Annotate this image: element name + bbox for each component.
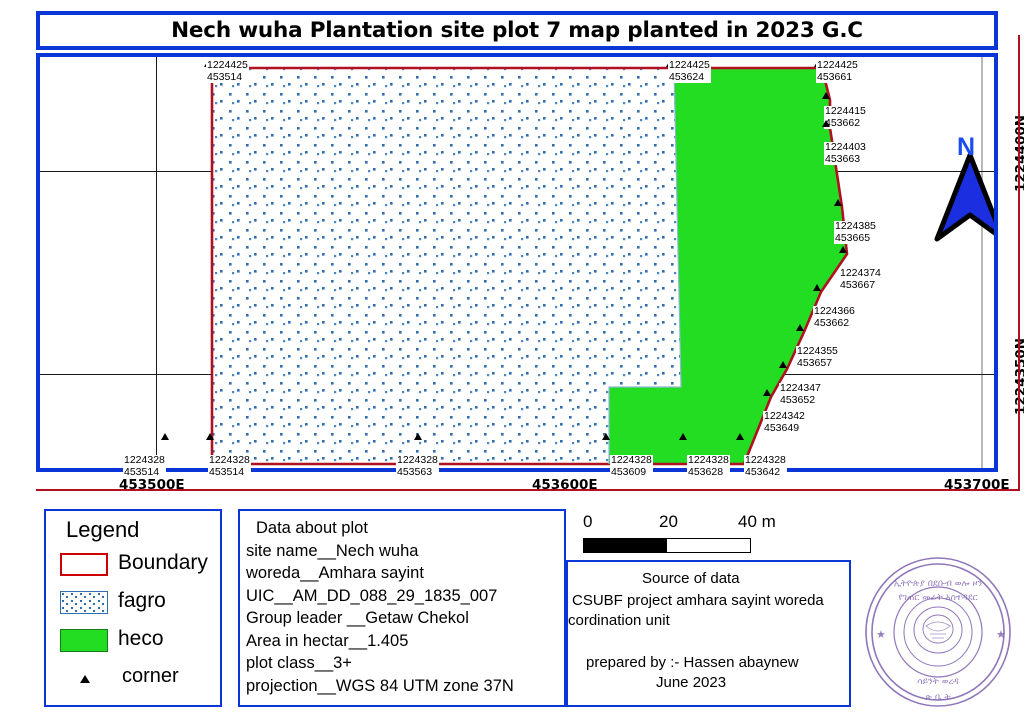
corner-marker-icon (161, 433, 169, 440)
corner-northing: 1224415 (825, 106, 866, 118)
corner-northing: 1224342 (764, 411, 805, 423)
right-rule (1018, 35, 1020, 491)
corner-northing: 1224425 (669, 60, 710, 72)
corner-northing: 1224403 (825, 142, 866, 154)
corner-coordinate-label: 1224328453628 (687, 455, 730, 478)
svg-text:ኢትዮጵያ በደቡብ ወሎ ዞን: ኢትዮጵያ በደቡብ ወሎ ዞን (894, 579, 982, 589)
scale-tick-label: 0 (583, 512, 592, 532)
corner-coordinate-label: 1224328453563 (396, 455, 439, 478)
corner-northing: 1224328 (397, 455, 438, 467)
corner-northing: 1224328 (745, 455, 786, 467)
corner-marker-icon (779, 361, 787, 368)
plot-data-line: UIC__AM_DD_088_29_1835_007 (246, 585, 564, 608)
source-heading: Source of data (642, 570, 740, 587)
corner-coordinate-label: 1224328453514 (123, 455, 166, 478)
page-title: Nech wuha Plantation site plot 7 map pla… (171, 18, 863, 43)
corner-coordinate-label: 1224425453624 (668, 60, 711, 83)
scale-bar-group: 0 20 40 m (583, 512, 833, 554)
corner-coordinate-label: 1224415453662 (824, 106, 867, 129)
triangle-marker-icon (80, 675, 90, 683)
plot-data-line: woreda__Amhara sayint (246, 562, 564, 585)
source-panel: Source of data CSUBF project amhara sayi… (566, 560, 851, 707)
map-page: Nech wuha Plantation site plot 7 map pla… (0, 0, 1024, 724)
corner-easting: 453514 (207, 72, 248, 84)
source-line-2: cordination unit (568, 612, 670, 629)
corner-coordinate-label: 1224385453665 (834, 221, 877, 244)
corner-marker-icon (822, 120, 830, 127)
corner-marker-icon (839, 246, 847, 253)
corner-northing: 1224355 (797, 346, 838, 358)
legend-item-label: Boundary (118, 551, 208, 575)
stamp-seal-icon: ኢትዮጵያ በደቡብ ወሎ ዞን የገጠር መሬት አስተዳደር ሳይንት ወረ… (858, 552, 1018, 714)
corner-marker-icon (822, 92, 830, 99)
corner-northing: 1224328 (611, 455, 652, 467)
corner-marker-icon (813, 284, 821, 291)
corner-easting: 453665 (835, 233, 876, 245)
boundary-swatch (60, 553, 108, 576)
scale-tick-label: 40 m (738, 512, 776, 532)
plot-data-line: site name__Nech wuha (246, 540, 564, 563)
corner-easting: 453563 (397, 467, 438, 479)
corner-easting: 453642 (745, 467, 786, 479)
corner-northing: 1224347 (780, 383, 821, 395)
corner-coordinate-label: 1224425453661 (816, 60, 859, 83)
plot-data-line: Area in hectar__1.405 (246, 630, 564, 653)
north-label: N (957, 133, 975, 162)
corner-coordinate-label: 1224328453609 (610, 455, 653, 478)
svg-text:★: ★ (996, 629, 1006, 641)
plot-data-line: Group leader __Getaw Chekol (246, 607, 564, 630)
corner-coordinate-label: 1224366453662 (813, 306, 856, 329)
corner-easting: 453667 (840, 280, 881, 292)
official-stamp: ኢትዮጵያ በደቡብ ወሎ ዞን የገጠር መሬት አስተዳደር ሳይንት ወረ… (858, 552, 1018, 714)
corner-marker-icon (679, 433, 687, 440)
svg-text:የገጠር መሬት አስተዳደር: የገጠር መሬት አስተዳደር (898, 593, 977, 603)
plot-data-panel: Data about plot site name__Nech wuha wor… (238, 509, 566, 707)
scale-bar (583, 538, 751, 553)
corner-marker-icon (736, 433, 744, 440)
corner-northing: 1224425 (817, 60, 858, 72)
corner-northing: 1224328 (124, 455, 165, 467)
bottom-rule (36, 489, 1020, 491)
corner-northing: 1224328 (209, 455, 250, 467)
corner-easting: 453657 (797, 358, 838, 370)
fagro-swatch-pattern (61, 592, 107, 613)
corner-easting: 453661 (817, 72, 858, 84)
corner-coordinate-label: 1224342453649 (763, 411, 806, 434)
corner-coordinate-label: 1224347453652 (779, 383, 822, 406)
corner-easting: 453652 (780, 395, 821, 407)
corner-easting: 453662 (825, 118, 866, 130)
corner-marker-icon (602, 433, 610, 440)
legend-panel: Legend Boundary fagro (44, 509, 222, 707)
corner-northing: 1224328 (688, 455, 729, 467)
corner-easting: 453628 (688, 467, 729, 479)
plot-data-line: projection__WGS 84 UTM zone 37N (246, 675, 564, 698)
svg-text:ሳይንት ወረዳ: ሳይንት ወረዳ (917, 677, 959, 687)
corner-coordinate-label: 1224374453667 (839, 268, 882, 291)
corner-marker-icon (796, 324, 804, 331)
corner-northing: 1224366 (814, 306, 855, 318)
scale-tick-label: 20 (659, 512, 678, 532)
source-line-1: CSUBF project amhara sayint woreda (572, 592, 824, 609)
corner-coordinate-label: 1224328453514 (208, 455, 251, 478)
svg-text:★: ★ (876, 629, 886, 641)
map-title-box: Nech wuha Plantation site plot 7 map pla… (36, 11, 998, 50)
heco-swatch (60, 629, 108, 652)
corner-marker-icon (834, 199, 842, 206)
corner-easting: 453662 (814, 318, 855, 330)
corner-coordinate-label: 1224355453657 (796, 346, 839, 369)
north-arrow: N (933, 139, 994, 244)
corner-northing: 1224385 (835, 221, 876, 233)
plot-data-heading: Data about plot (246, 517, 564, 540)
corner-coordinate-label: 1224403453663 (824, 142, 867, 165)
legend-item-label: corner (122, 665, 179, 688)
prepared-by-line: prepared by :- Hassen abaynew (586, 654, 799, 671)
legend-title: Legend (66, 517, 139, 543)
legend-item-label: heco (118, 627, 164, 651)
plot-data-line: plot class__3+ (246, 652, 564, 675)
corner-easting: 453649 (764, 423, 805, 435)
svg-text:ጽ ቤ ት: ጽ ቤ ት (925, 693, 950, 703)
corner-coordinate-label: 1224328453642 (744, 455, 787, 478)
corner-northing: 1224374 (840, 268, 881, 280)
corner-easting: 453624 (669, 72, 710, 84)
corner-marker-icon (206, 433, 214, 440)
corner-easting: 453514 (209, 467, 250, 479)
corner-coordinate-label: 1224425453514 (206, 60, 249, 83)
corner-northing: 1224425 (207, 60, 248, 72)
corner-easting: 453663 (825, 154, 866, 166)
corner-easting: 453609 (611, 467, 652, 479)
prepared-date-line: June 2023 (656, 674, 726, 691)
corner-marker-icon (763, 389, 771, 396)
scale-segment-empty (667, 539, 750, 552)
corner-marker-icon (414, 433, 422, 440)
legend-item-label: fagro (118, 589, 166, 613)
scale-segment-filled (584, 539, 667, 552)
fagro-swatch (60, 591, 108, 614)
